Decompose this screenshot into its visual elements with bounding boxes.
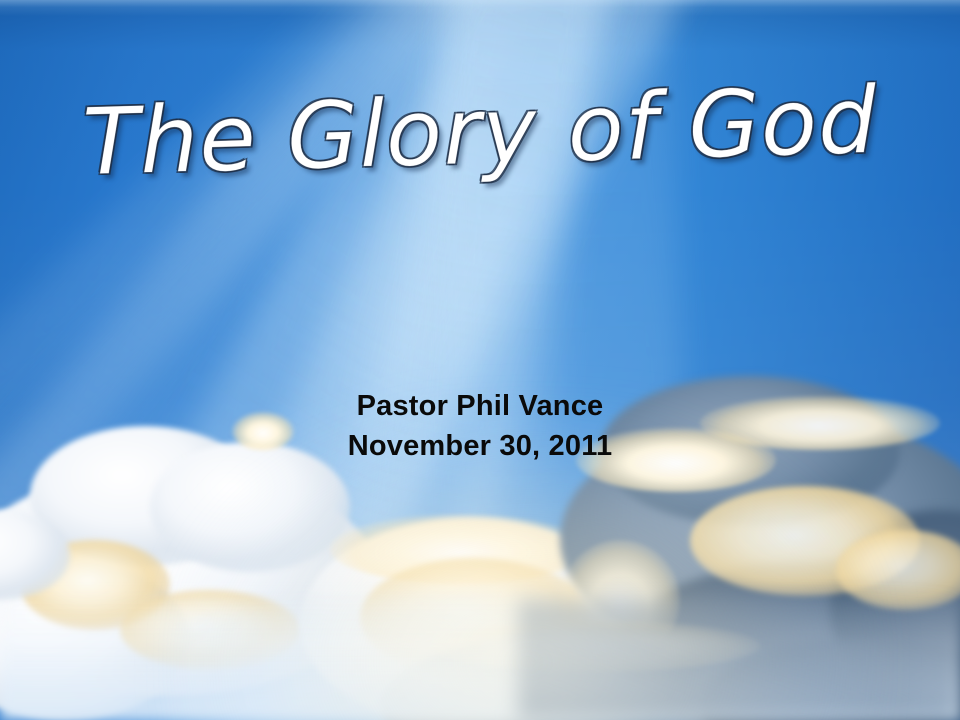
subtitle-date: November 30, 2011 bbox=[0, 426, 960, 466]
slide-title: The Glory of God bbox=[0, 73, 960, 192]
sky-top-highlight bbox=[0, 0, 960, 16]
subtitle-speaker: Pastor Phil Vance bbox=[0, 386, 960, 426]
title-slide: The Glory of God Pastor Phil Vance Novem… bbox=[0, 0, 960, 720]
slide-subtitle: Pastor Phil Vance November 30, 2011 bbox=[0, 386, 960, 466]
